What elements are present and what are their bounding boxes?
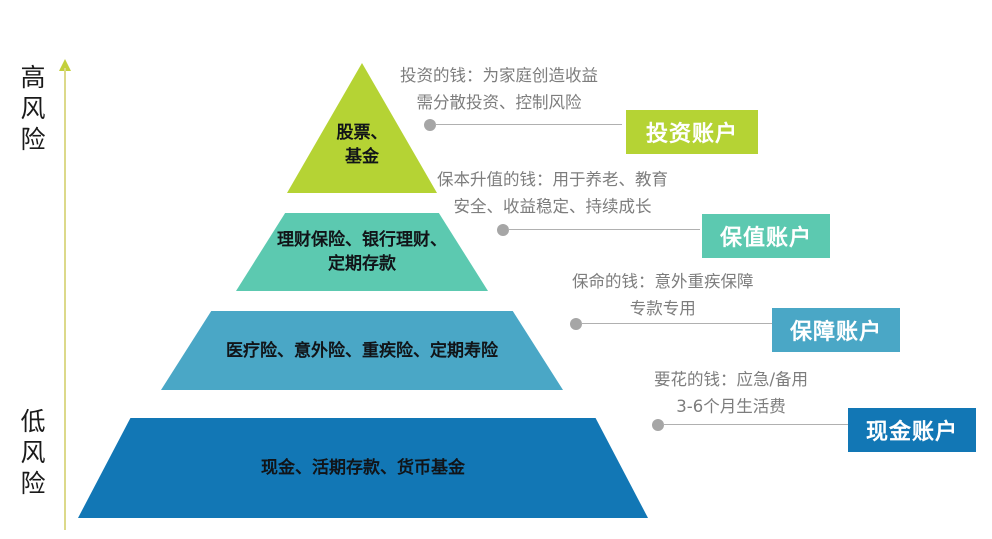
badge-preservation-account[interactable]: 保值账户 [702, 214, 830, 258]
callout-investment-line2: 需分散投资、控制风险 [400, 89, 598, 116]
connector-protection [570, 318, 772, 330]
connector-cash-line [663, 424, 850, 425]
badge-cash-account[interactable]: 现金账户 [848, 408, 976, 452]
axis-label-high-risk-char3: 险 [16, 124, 50, 155]
pyramid-tier-cash-label: 现金、活期存款、货币基金 [261, 456, 465, 480]
connector-investment-line [435, 124, 622, 125]
callout-cash-line2: 3-6个月生活费 [654, 393, 808, 420]
axis-label-low-risk-char3: 险 [16, 468, 50, 499]
pyramid-tier-protection[interactable]: 医疗险、意外险、重疾险、定期寿险 [161, 311, 563, 390]
callout-preservation-line1: 保本升值的钱：用于养老、教育 [437, 166, 668, 193]
connector-preservation-line [508, 229, 700, 230]
pyramid-tier-cash[interactable]: 现金、活期存款、货币基金 [78, 418, 648, 518]
badge-protection-account[interactable]: 保障账户 [772, 308, 900, 352]
callout-protection-line1: 保命的钱：意外重疾保障 [572, 268, 754, 295]
connector-protection-line [581, 323, 772, 324]
callout-investment-text: 投资的钱：为家庭创造收益 需分散投资、控制风险 [400, 62, 598, 116]
connector-investment [424, 119, 622, 131]
pyramid-tier-protection-label: 医疗险、意外险、重疾险、定期寿险 [226, 339, 498, 363]
axis-label-low-risk: 低 风 险 [16, 406, 50, 499]
connector-preservation [497, 224, 700, 236]
axis-label-low-risk-char1: 低 [16, 406, 50, 437]
callout-protection-text: 保命的钱：意外重疾保障 专款专用 [572, 268, 754, 322]
axis-label-high-risk-char2: 风 [16, 93, 50, 124]
pyramid-tier-investment-label: 股票、 基金 [337, 121, 388, 169]
risk-axis-line [64, 68, 66, 530]
callout-cash-line1: 要花的钱：应急/备用 [654, 366, 808, 393]
callout-preservation-text: 保本升值的钱：用于养老、教育 安全、收益稳定、持续成长 [437, 166, 668, 220]
axis-label-low-risk-char2: 风 [16, 437, 50, 468]
connector-cash [652, 419, 850, 431]
badge-investment-account[interactable]: 投资账户 [626, 110, 758, 154]
callout-cash-text: 要花的钱：应急/备用 3-6个月生活费 [654, 366, 808, 420]
axis-label-high-risk-char1: 高 [16, 62, 50, 93]
pyramid-tier-preservation-label: 理财保险、银行理财、 定期存款 [277, 228, 447, 276]
diagram-canvas: 高 风 险 低 风 险 股票、 基金 理财保险、银行理财、 定期存款 医疗险、意… [0, 0, 992, 539]
pyramid-tier-preservation[interactable]: 理财保险、银行理财、 定期存款 [236, 213, 488, 291]
axis-label-high-risk: 高 风 险 [16, 62, 50, 155]
callout-preservation-line2: 安全、收益稳定、持续成长 [437, 193, 668, 220]
callout-investment-line1: 投资的钱：为家庭创造收益 [400, 62, 598, 89]
